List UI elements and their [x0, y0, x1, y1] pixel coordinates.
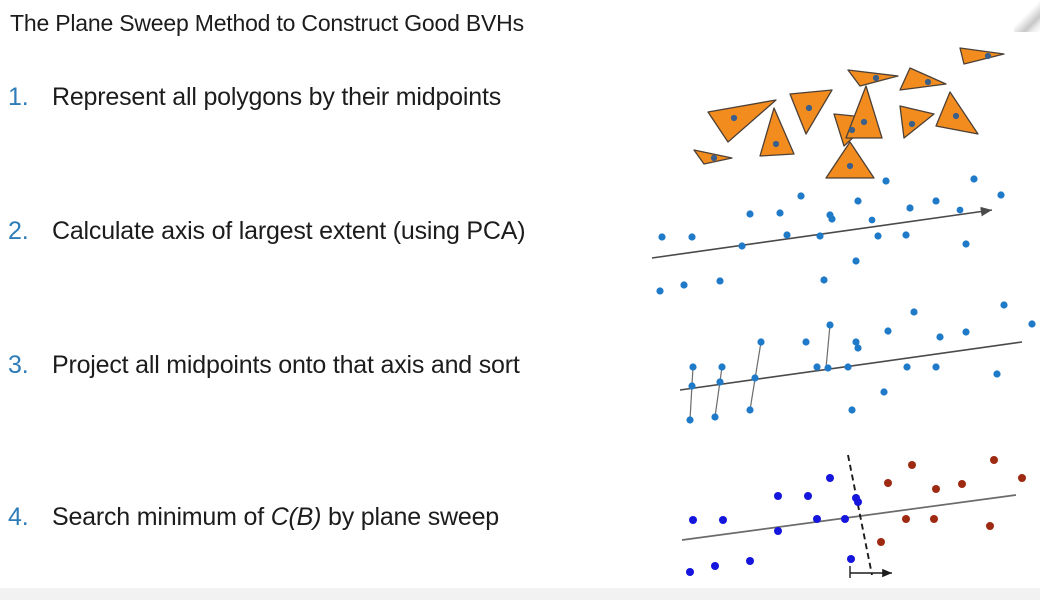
polygon-triangle	[960, 48, 1004, 64]
figure-plane-sweep-split	[660, 440, 1040, 590]
midpoint-dot	[993, 370, 1000, 377]
bullet-number-2: 2.	[8, 217, 52, 246]
polygon-triangle	[790, 90, 832, 134]
triangle-midpoint-dot	[849, 127, 855, 133]
slide-canvas: The Plane Sweep Method to Construct Good…	[0, 0, 1040, 600]
midpoint-dot	[1000, 301, 1007, 308]
right-partition-dot	[884, 479, 892, 487]
left-partition-dot	[847, 555, 855, 563]
midpoint-dot	[880, 388, 887, 395]
projection-line	[715, 367, 722, 417]
right-partition-dot	[932, 485, 940, 493]
midpoint-dot	[910, 308, 917, 315]
midpoint-dot	[1028, 320, 1035, 327]
midpoint-dot	[826, 321, 833, 328]
right-partition-dot	[930, 515, 938, 523]
midpoint-dot	[656, 287, 663, 294]
left-partition-dot	[686, 568, 694, 576]
figure-polygons-with-midpoints	[660, 38, 1040, 183]
midpoint-dot	[746, 406, 753, 413]
midpoint-dot	[686, 416, 693, 423]
left-partition-dot	[841, 515, 849, 523]
midpoint-dot	[884, 327, 891, 334]
triangle-midpoint-dot	[861, 119, 867, 125]
left-partition-dot	[746, 557, 754, 565]
midpoint-dot	[844, 363, 851, 370]
triangle-midpoint-dot	[773, 141, 779, 147]
left-partition-dot	[813, 515, 821, 523]
right-partition-dot	[990, 456, 998, 464]
midpoint-dot	[813, 363, 820, 370]
projection-line	[826, 325, 830, 368]
midpoint-dot	[718, 363, 725, 370]
triangle-midpoint-dot	[731, 115, 737, 121]
left-partition-dot	[711, 562, 719, 570]
triangle-midpoint-dot	[711, 155, 717, 161]
right-partition-dot	[877, 538, 885, 546]
left-partition-dot	[774, 527, 782, 535]
midpoint-dot	[802, 338, 809, 345]
midpoint-dot	[852, 257, 859, 264]
midpoint-dot	[797, 192, 804, 199]
midpoint-dot	[997, 191, 1004, 198]
bullet-number-4: 4.	[8, 503, 52, 532]
page-title: The Plane Sweep Method to Construct Good…	[10, 10, 710, 37]
midpoint-dot	[902, 231, 909, 238]
midpoint-dot	[816, 232, 823, 239]
midpoint-dot	[882, 177, 889, 184]
midpoint-dot	[936, 333, 943, 340]
projected-point-dot	[824, 364, 831, 371]
right-partition-dot	[1018, 474, 1026, 482]
bullet-item-4: 4. Search minimum of C(B) by plane sweep	[8, 503, 668, 532]
midpoint-dot	[711, 413, 718, 420]
midpoint-dot	[820, 276, 827, 283]
bullet-text-4-before: Search minimum of	[52, 503, 271, 531]
midpoint-dot	[932, 197, 939, 204]
midpoint-dot	[854, 344, 861, 351]
sweep-axis	[682, 495, 1016, 540]
polygon-triangle	[760, 108, 794, 156]
triangle-midpoint-dot	[985, 53, 991, 59]
bullet-item-3: 3. Project all midpoints onto that axis …	[8, 351, 668, 380]
figure-pca-axis-scatter	[640, 165, 1040, 305]
figure-projected-sorted-midpoints	[660, 300, 1040, 440]
bullet-item-2: 2. Calculate axis of largest extent (usi…	[8, 217, 668, 246]
midpoint-dot	[903, 363, 910, 370]
midpoint-dot	[738, 242, 745, 249]
right-partition-dot	[908, 461, 916, 469]
bullet-text-4: Search minimum of C(B) by plane sweep	[52, 503, 499, 532]
midpoint-dot	[962, 328, 969, 335]
midpoint-dot	[848, 406, 855, 413]
polygon-triangle	[900, 106, 934, 138]
midpoint-dot	[970, 175, 977, 182]
projection-line	[690, 367, 693, 420]
triangle-midpoint-dot	[909, 121, 915, 127]
midpoint-dot	[962, 240, 969, 247]
bullet-item-1: 1. Represent all polygons by their midpo…	[8, 83, 668, 112]
cost-function-symbol: C(B)	[271, 503, 322, 531]
midpoint-dot	[716, 277, 723, 284]
bullet-text-1: Represent all polygons by their midpoint…	[52, 83, 501, 112]
midpoint-dot	[757, 338, 764, 345]
left-partition-dot	[719, 516, 727, 524]
midpoint-dot	[906, 204, 913, 211]
corner-artifact-icon	[1014, 0, 1040, 32]
midpoint-dot	[783, 231, 790, 238]
midpoint-dot	[658, 233, 665, 240]
left-partition-dot	[854, 498, 862, 506]
triangle-midpoint-dot	[806, 105, 812, 111]
midpoint-dot	[828, 215, 835, 222]
bullet-number-3: 3.	[8, 351, 52, 380]
midpoint-dot	[680, 281, 687, 288]
midpoint-dot	[874, 232, 881, 239]
left-partition-dot	[689, 516, 697, 524]
right-partition-dot	[902, 515, 910, 523]
projected-point-dot	[751, 374, 758, 381]
midpoint-dot	[932, 363, 939, 370]
bullet-text-2: Calculate axis of largest extent (using …	[52, 217, 525, 246]
bullet-text-3: Project all midpoints onto that axis and…	[52, 351, 520, 380]
midpoint-dot	[746, 210, 753, 217]
bullet-text-4-after: by plane sweep	[321, 503, 499, 531]
left-partition-dot	[826, 474, 834, 482]
polygon-triangle	[900, 68, 946, 90]
left-partition-dot	[804, 492, 812, 500]
bottom-strip	[0, 588, 1040, 600]
projected-point-dot	[688, 382, 695, 389]
midpoint-dot	[688, 233, 695, 240]
right-partition-dot	[986, 522, 994, 530]
midpoint-dot	[689, 363, 696, 370]
midpoint-dot	[776, 209, 783, 216]
triangle-midpoint-dot	[925, 79, 931, 85]
projected-point-dot	[716, 378, 723, 385]
left-partition-dot	[774, 492, 782, 500]
bullet-number-1: 1.	[8, 83, 52, 112]
polygon-triangle	[936, 92, 978, 134]
triangle-midpoint-dot	[953, 113, 959, 119]
right-partition-dot	[958, 480, 966, 488]
midpoint-dot	[854, 197, 861, 204]
triangle-midpoint-dot	[873, 75, 879, 81]
